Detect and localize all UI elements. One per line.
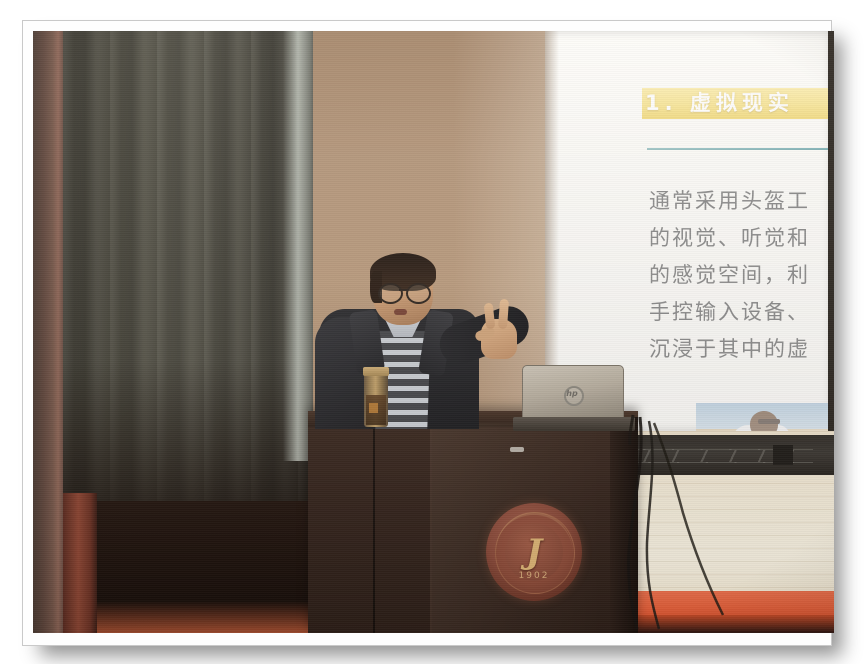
photograph-clip: 1. 虚拟现实 通常采用头盔工 的视觉、听觉和 的感觉空间，利 手控输入设备、 … <box>33 31 834 633</box>
hanging-cables <box>33 31 834 633</box>
screenshot-canvas: 1. 虚拟现实 通常采用头盔工 的视觉、听觉和 的感觉空间，利 手控输入设备、 … <box>0 0 864 664</box>
photograph: 1. 虚拟现实 通常采用头盔工 的视觉、听觉和 的感觉空间，利 手控输入设备、 … <box>33 31 834 633</box>
photo-frame: 1. 虚拟现实 通常采用头盔工 的视觉、听觉和 的感觉空间，利 手控输入设备、 … <box>22 20 832 646</box>
